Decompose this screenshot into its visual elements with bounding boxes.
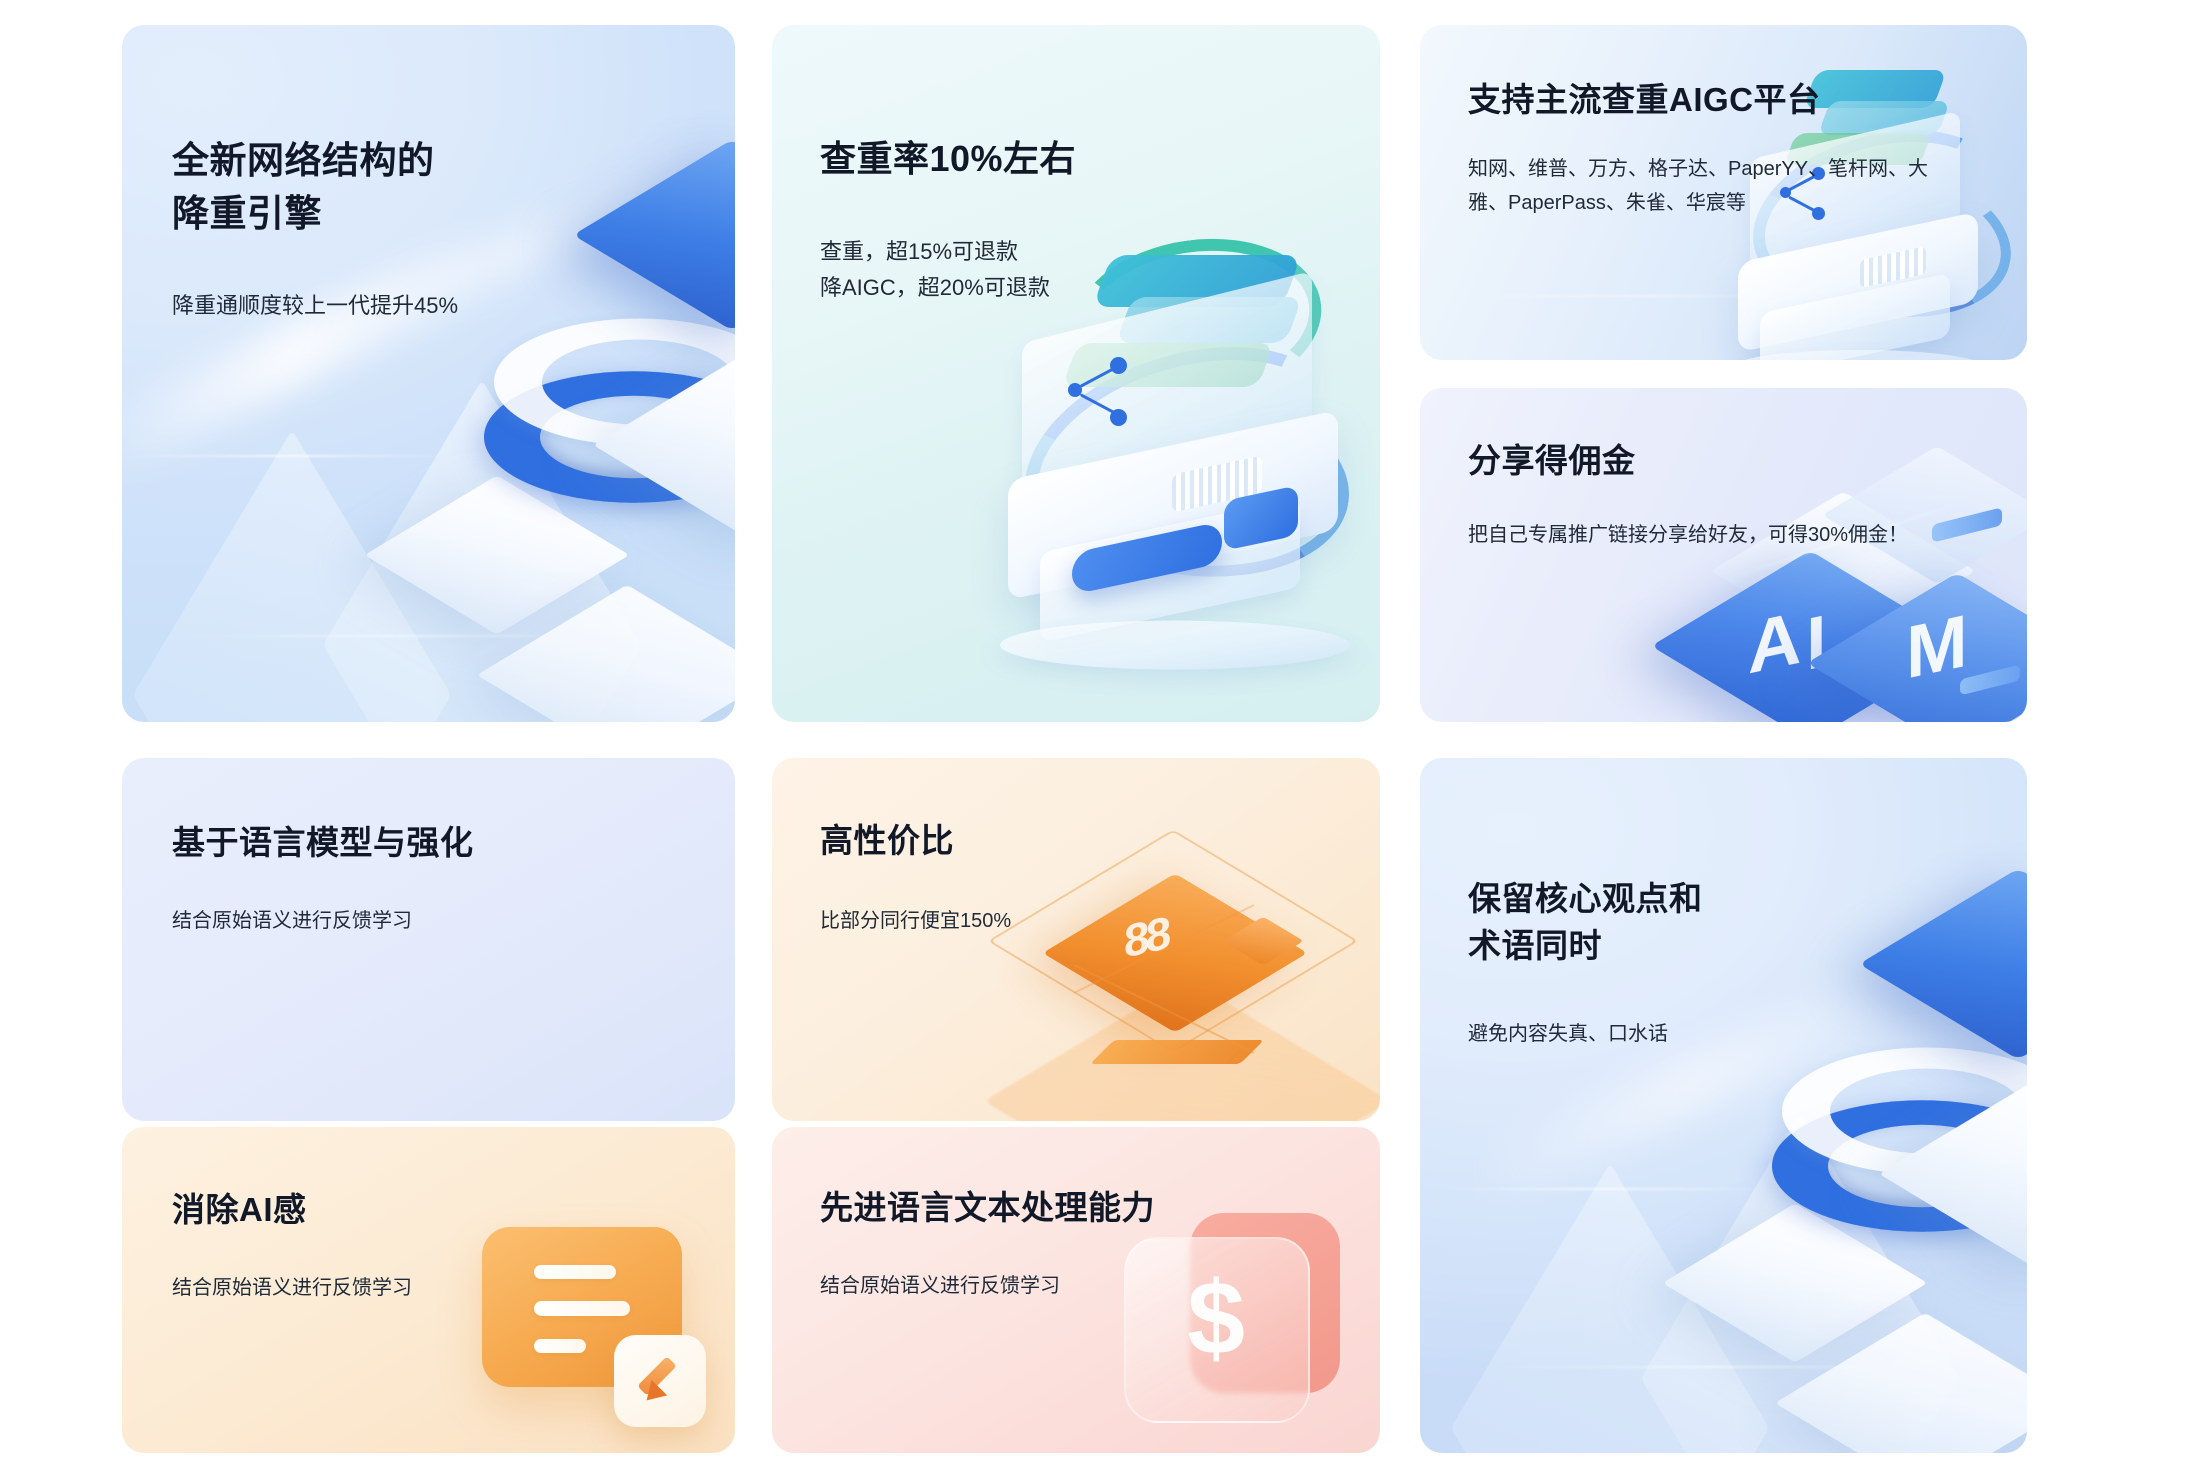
ai-letter-M: M: [1906, 597, 1968, 695]
ai-letter-A: A: [1748, 594, 1801, 690]
card-subtitle: 比部分同行便宜150%: [820, 905, 1380, 937]
card-subtitle: 结合原始语义进行反馈学习: [172, 905, 735, 937]
card-high-value[interactable]: 88 高性价比 比部分同行便宜150%: [772, 758, 1380, 1121]
card-title: 支持主流查重AIGC平台: [1468, 77, 1950, 124]
card-duplicate-rate[interactable]: 查重率10%左右 查重，超15%可退款 降AIGC，超20%可退款: [772, 25, 1380, 722]
card-subtitle: 查重，超15%可退款 降AIGC，超20%可退款: [820, 234, 1380, 305]
card-supported-platforms[interactable]: 支持主流查重AIGC平台 知网、维普、万方、格子达、PaperYY、笔杆网、大雅…: [1420, 25, 2027, 360]
card-title: 基于语言模型与强化: [172, 820, 735, 867]
card-title: 高性价比: [820, 818, 1380, 865]
card-title: 全新网络结构的 降重引擎: [172, 135, 735, 240]
card-subtitle: 避免内容失真、口水话: [1468, 1018, 2027, 1050]
card-language-model-rl[interactable]: 基于语言模型与强化 结合原始语义进行反馈学习: [122, 758, 735, 1121]
card-subtitle: 结合原始语义进行反馈学习: [172, 1272, 735, 1304]
card-subtitle: 降重通顺度较上一代提升45%: [172, 288, 735, 324]
card-remove-ai-feel[interactable]: 消除AI感 结合原始语义进行反馈学习: [122, 1127, 735, 1453]
card-title: 消除AI感: [172, 1187, 735, 1234]
card-title: 分享得佣金: [1468, 438, 1980, 485]
card-keep-core-views[interactable]: 保留核心观点和 术语同时 避免内容失真、口水话: [1420, 758, 2027, 1453]
feature-card-grid: 全新网络结构的 降重引擎 降重通顺度较上一代提升45%: [0, 0, 2200, 1478]
card-subtitle: 把自己专属推广链接分享给好友，可得30%佣金！: [1468, 519, 1980, 551]
card-advanced-text-processing[interactable]: $ 先进语言文本处理能力 结合原始语义进行反馈学习: [772, 1127, 1380, 1453]
card-new-network-engine[interactable]: 全新网络结构的 降重引擎 降重通顺度较上一代提升45%: [122, 25, 735, 722]
card-subtitle: 结合原始语义进行反馈学习: [820, 1270, 1380, 1302]
card-title: 查重率10%左右: [820, 133, 1380, 184]
ai-letter-I: I: [1806, 598, 1827, 687]
card-title: 保留核心观点和 术语同时: [1468, 876, 2027, 970]
card-share-commission[interactable]: A I M 分享得佣金 把自己专属推广链接分享给好友，可得30%佣金！: [1420, 388, 2027, 722]
card-title: 先进语言文本处理能力: [820, 1185, 1380, 1232]
card-subtitle: 知网、维普、万方、格子达、PaperYY、笔杆网、大雅、PaperPass、朱雀…: [1468, 152, 1950, 221]
